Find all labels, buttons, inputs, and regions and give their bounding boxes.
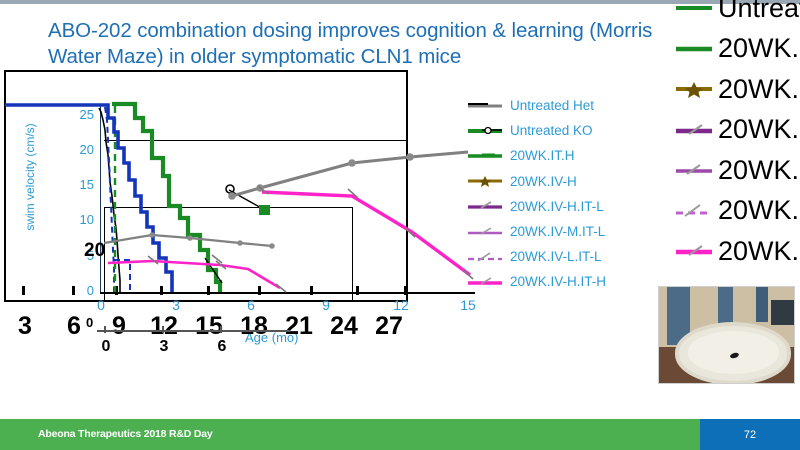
photo-curtain-right [756,287,768,322]
x-tick-15: 15 [455,297,481,313]
legend-label: Untreated KO [510,123,593,138]
large-legend-item-1[interactable]: 20WK.I [676,29,800,70]
black-tick-15: 15 [189,312,229,341]
legend-label: 20WK.IV-M.IT-L [510,224,605,239]
outer-tick-9 [404,286,407,295]
hidden-y-marker-20: 20 [84,240,105,262]
secondary-tick-6 [220,326,222,333]
large-legend-label: Untreat [718,0,800,24]
legend-label: Untreated Het [510,98,594,113]
slide-canvas: ABO-202 combination dosing improves cogn… [0,0,800,450]
photo-dark-object [771,300,794,325]
legend-item-untreated-ko[interactable]: Untreated KO [468,118,658,143]
outer-tick-7 [310,286,313,295]
large-legend-label: 20WK.I [718,236,800,267]
outer-tick-6 [258,286,261,295]
magenta-large-swatch-icon [676,242,712,260]
page-number: 72 [700,429,800,441]
untreated-ko-swatch-icon [468,124,502,138]
photo-mouse [730,352,740,360]
outer-tick-2 [72,286,75,295]
y-tick-20: 20 [68,142,94,157]
secondary-axis-line [97,330,290,332]
chart-frame-inner-top-rule [104,140,408,141]
y-axis-line [100,104,101,292]
legend-label: 20WK.IT.H [510,148,575,163]
large-legend-label: 20WK.I [718,195,800,226]
outer-tick-3 [115,286,118,295]
x-tick-3: 3 [163,297,189,313]
legend-item-20wk-iv-h-it-l[interactable]: 20WK.IV-H.IT-L [468,194,658,219]
untreated-large-swatch-icon [676,0,712,17]
green-large-swatch-icon [676,40,712,58]
photo-pool [675,322,791,384]
page-title: ABO-202 combination dosing improves cogn… [48,18,708,70]
legend-item-20wk-iv-h-it-h[interactable]: 20WK.IV-H.IT-H [468,269,658,294]
black-tick-21: 21 [279,312,319,341]
large-legend-item-5[interactable]: 20WK.I [676,191,800,232]
secondary-label-3: 3 [152,338,176,356]
orchid-large-swatch-icon [676,202,712,220]
black-tick-12: 12 [144,312,184,341]
20wk-iv-h-it-l-swatch-icon [468,199,502,213]
untreated-het-swatch-icon [468,99,502,113]
x-tick-12: 12 [388,297,414,313]
gold-star-large-swatch-icon [676,80,712,98]
outer-tick-4 [160,286,163,295]
large-legend-overflow: Untreat 20WK.I 20WK.I [676,0,800,272]
large-legend-item-4[interactable]: 20WK.I [676,150,800,191]
large-legend-label: 20WK.I [718,155,800,186]
secondary-tick-0 [104,326,106,333]
black-tick-27: 27 [369,312,409,341]
legend-label: 20WK.IV-H.IT-L [510,199,604,214]
secondary-tick-3 [162,326,164,333]
20wk-iv-h-swatch-icon [468,174,502,188]
legend-item-untreated-het[interactable]: Untreated Het [468,93,658,118]
secondary-origin-label: 0 [86,315,93,330]
large-legend-item-6[interactable]: 20WK.I [676,231,800,272]
y-axis-label: swim velocity (cm/s) [23,107,37,247]
violet-large-swatch-icon [676,161,712,179]
black-tick-3: 3 [5,312,45,341]
large-legend-item-untreated[interactable]: Untreat [676,0,800,29]
20wk-iv-m-it-l-swatch-icon [468,225,502,239]
legend-label: 20WK.IV-H [510,174,577,189]
chart-legend: Untreated Het Untreated KO 20WK.IT.H [468,93,658,295]
y-tick-15: 15 [68,177,94,192]
legend-label: 20WK.IV-H.IT-H [510,274,606,289]
large-legend-label: 20WK.I [718,33,800,64]
chart-frame-inner [104,207,353,302]
y-tick-25: 25 [68,107,94,122]
outer-tick-5 [207,286,210,295]
outer-tick-1 [22,286,25,295]
legend-item-20wk-iv-l-it-l[interactable]: 20WK.IV-L.IT-L [468,244,658,269]
20wk-iv-h-it-h-swatch-icon [468,275,502,289]
large-legend-label: 20WK.I [718,114,800,145]
large-legend-item-3[interactable]: 20WK.I [676,110,800,151]
large-legend-item-2[interactable]: 20WK.I [676,69,800,110]
legend-item-20wk-iv-m-it-l[interactable]: 20WK.IV-M.IT-L [468,219,658,244]
black-tick-18: 18 [234,312,274,341]
x-tick-0: 0 [88,297,114,313]
footer-label: Abeona Therapeutics 2018 R&D Day [38,428,213,440]
legend-item-20wk-it-h[interactable]: 20WK.IT.H [468,143,658,168]
x-tick-6: 6 [238,297,264,313]
x-tick-9: 9 [313,297,339,313]
legend-label: 20WK.IV-L.IT-L [510,249,602,264]
outer-tick-8 [356,286,359,295]
black-tick-24: 24 [324,312,364,341]
purple-large-swatch-icon [676,121,712,139]
20wk-it-h-swatch-icon [468,149,502,163]
y-tick-10: 10 [68,212,94,227]
large-legend-label: 20WK.I [718,74,800,105]
secondary-label-6: 6 [210,338,234,356]
photo-water [688,331,779,374]
water-maze-photo [658,286,795,384]
secondary-label-0: 0 [94,338,118,356]
legend-item-20wk-iv-h[interactable]: 20WK.IV-H [468,169,658,194]
20wk-iv-l-it-l-swatch-icon [468,250,502,264]
x-axis-line [100,292,475,294]
